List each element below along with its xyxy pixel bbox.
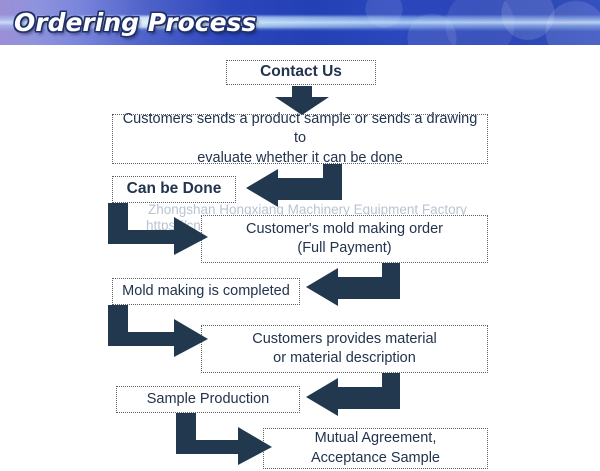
flow-box-contact-us: Contact Us <box>226 60 376 85</box>
connector-down-1 <box>267 86 337 115</box>
page-banner: Ordering Process <box>0 0 600 45</box>
connector-elbow-left-2 <box>300 263 400 306</box>
connector-elbow-right-2 <box>108 305 220 357</box>
flow-box-can-be-done-label: Can be Done <box>119 179 229 199</box>
flow-box-contact-us-label: Contact Us <box>233 62 369 82</box>
flow-box-mold-completed-label: Mold making is completed <box>119 282 293 301</box>
flow-box-mutual-agreement-text: Mutual Agreement,Acceptance Sample <box>270 429 481 467</box>
connector-elbow-right-3 <box>176 413 284 465</box>
flow-box-send-sample-text: Customers sends a product sample or send… <box>119 110 481 167</box>
flow-box-sample-production-label: Sample Production <box>123 390 293 409</box>
flow-box-provides-material-text: Customers provides materialor material d… <box>208 330 481 368</box>
flow-box-sample-production: Sample Production <box>116 386 300 413</box>
connector-elbow-right-1 <box>108 203 220 255</box>
flow-box-mold-completed: Mold making is completed <box>112 278 300 305</box>
flow-box-provides-material-line1: Customers provides material <box>252 331 437 347</box>
page-title: Ordering Process <box>14 8 256 37</box>
flow-box-provides-material-line2: or material description <box>273 350 416 366</box>
flow-box-mold-order-line2: (Full Payment) <box>297 240 391 256</box>
flow-box-send-sample-line1: Customers sends a product sample or send… <box>123 111 478 146</box>
flow-box-send-sample: Customers sends a product sample or send… <box>112 114 488 164</box>
flow-box-mutual-agreement-line1: Mutual Agreement, <box>315 430 437 446</box>
flow-box-mold-order: Customer's mold making order(Full Paymen… <box>201 215 488 263</box>
flow-box-mold-order-line1: Customer's mold making order <box>246 221 443 237</box>
flow-box-mutual-agreement-line2: Acceptance Sample <box>311 450 440 466</box>
flow-box-mutual-agreement: Mutual Agreement,Acceptance Sample <box>263 428 488 469</box>
ordering-process-page: Ordering Process Zhongshan Hongxiang Mac… <box>0 0 600 471</box>
connector-elbow-left-3 <box>300 373 400 416</box>
flow-box-can-be-done: Can be Done <box>112 176 236 203</box>
flow-box-mold-order-text: Customer's mold making order(Full Paymen… <box>208 220 481 258</box>
flow-box-provides-material: Customers provides materialor material d… <box>201 325 488 373</box>
connector-elbow-left-1 <box>232 164 342 207</box>
